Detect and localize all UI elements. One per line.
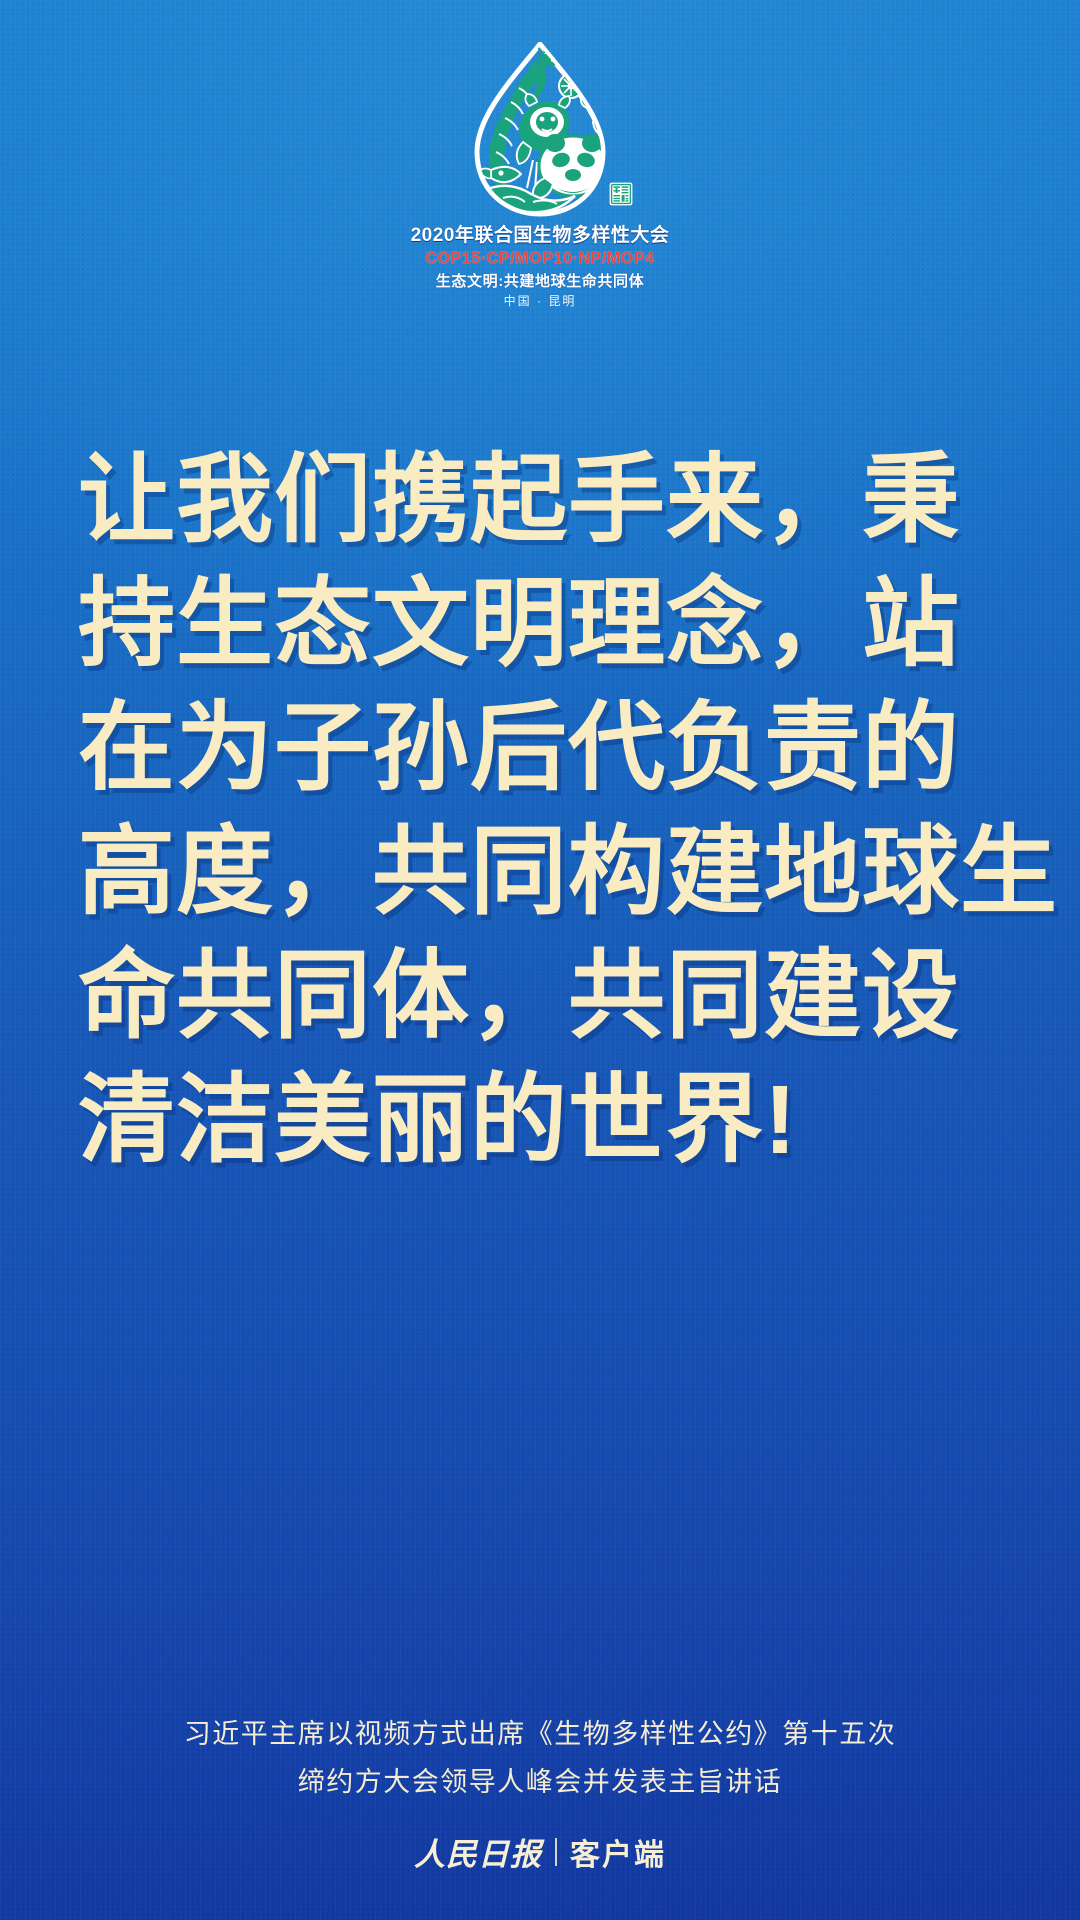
caption-line: 缔约方大会领导人峰会并发表主旨讲话 — [0, 1758, 1080, 1806]
caption-line: 习近平主席以视频方式出席《生物多样性公约》第十五次 — [0, 1710, 1080, 1758]
conference-emblem-block: 2020年联合国生物多样性大会 COP15·CP/MOP10·NP/MOP4 生… — [0, 42, 1080, 309]
publisher-brand: 人民日报 客户端 — [0, 1829, 1080, 1874]
headline-line: 清洁美丽的世界! — [78, 1058, 1008, 1182]
chinese-seal-stamp-icon — [609, 182, 633, 206]
headline-quote: 让我们携起手来，秉 持生态文明理念，站 在为子孙后代负责的 高度，共同构建地球生… — [78, 438, 1008, 1182]
emblem-line-cop-code: COP15·CP/MOP10·NP/MOP4 — [411, 249, 670, 269]
emblem-line-theme: 生态文明:共建地球生命共同体 — [411, 272, 670, 291]
emblem-line-location: 中国 · 昆明 — [411, 294, 670, 309]
poster-page: 2020年联合国生物多样性大会 COP15·CP/MOP10·NP/MOP4 生… — [0, 0, 1080, 1920]
source-caption: 习近平主席以视频方式出席《生物多样性公约》第十五次 缔约方大会领导人峰会并发表主… — [0, 1710, 1080, 1806]
brand-divider — [555, 1838, 557, 1866]
headline-line: 在为子孙后代负责的 — [78, 686, 1008, 810]
headline-line: 让我们携起手来，秉 — [78, 438, 1008, 562]
brand-app-label: 客户端 — [570, 1830, 666, 1874]
cop15-biodiversity-emblem-icon — [449, 42, 631, 218]
headline-line: 高度，共同构建地球生 — [78, 810, 1008, 934]
headline-line: 持生态文明理念，站 — [78, 562, 1008, 686]
brand-name-peoples-daily: 人民日报 — [414, 1829, 542, 1874]
emblem-caption: 2020年联合国生物多样性大会 COP15·CP/MOP10·NP/MOP4 生… — [411, 224, 670, 309]
emblem-line-conference-name: 2020年联合国生物多样性大会 — [411, 224, 670, 248]
headline-line: 命共同体，共同建设 — [78, 934, 1008, 1058]
